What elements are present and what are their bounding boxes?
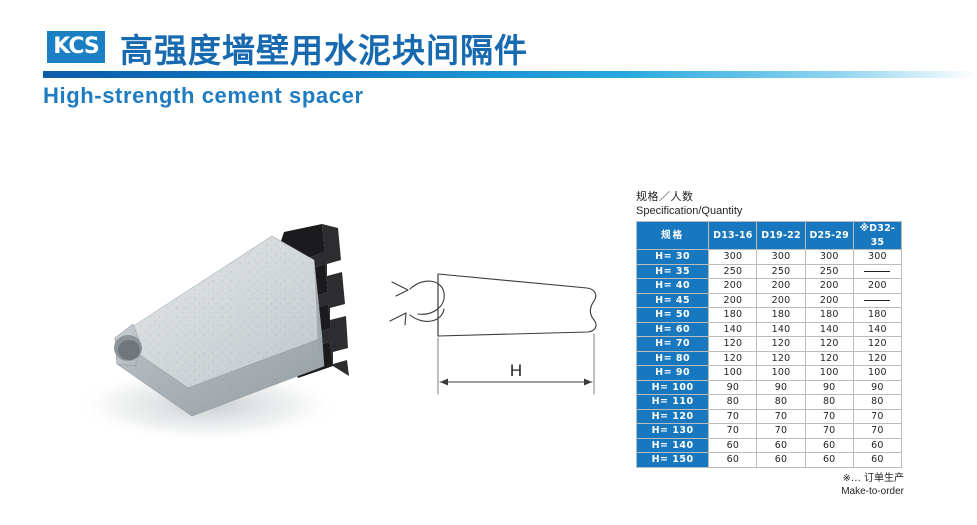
row-header-height: H= 35 xyxy=(637,264,709,279)
arrow-left xyxy=(440,379,448,386)
table-cell: 180 xyxy=(853,308,901,323)
table-cell: 100 xyxy=(709,366,757,381)
row-header-height: H= 70 xyxy=(637,337,709,352)
table-cell: 100 xyxy=(757,366,805,381)
table-cell: 200 xyxy=(757,293,805,308)
table-row: H= 30300300300300 xyxy=(637,250,902,265)
footnote-chinese: ※… 订单生产 xyxy=(636,472,904,485)
table-cell: 60 xyxy=(757,453,805,468)
table-cell xyxy=(853,264,901,279)
table-cell: 70 xyxy=(757,424,805,439)
specification-section: 规格／人数 Specification/Quantity 规格 D13-16 D… xyxy=(636,190,906,498)
table-cell: 300 xyxy=(805,250,853,265)
spec-caption-chinese: 规格／人数 xyxy=(636,190,906,204)
table-cell: 60 xyxy=(805,438,853,453)
spec-caption-english: Specification/Quantity xyxy=(636,204,906,218)
column-header-spec: 规格 xyxy=(637,222,709,250)
page-title-english: High-strength cement spacer xyxy=(43,83,364,109)
table-cell: 70 xyxy=(709,409,757,424)
table-row: H= 90100100100100 xyxy=(637,366,902,381)
table-row: H= 80120120120120 xyxy=(637,351,902,366)
table-row: H= 11080808080 xyxy=(637,395,902,410)
table-cell: 200 xyxy=(709,279,757,294)
table-row: H= 45200200200 xyxy=(637,293,902,308)
table-cell: 120 xyxy=(757,337,805,352)
table-row: H= 70120120120120 xyxy=(637,337,902,352)
table-row: H= 12070707070 xyxy=(637,409,902,424)
table-cell: 200 xyxy=(853,279,901,294)
table-cell: 70 xyxy=(709,424,757,439)
column-header-d19-22: D19-22 xyxy=(757,222,805,250)
table-row: H= 60140140140140 xyxy=(637,322,902,337)
row-header-height: H= 30 xyxy=(637,250,709,265)
table-cell: 90 xyxy=(709,380,757,395)
table-cell: 60 xyxy=(805,453,853,468)
table-cell: 120 xyxy=(709,351,757,366)
row-header-height: H= 40 xyxy=(637,279,709,294)
row-header-height: H= 150 xyxy=(637,453,709,468)
row-header-height: H= 80 xyxy=(637,351,709,366)
table-cell: 140 xyxy=(757,322,805,337)
product-photo xyxy=(22,152,374,482)
table-row: H= 15060606060 xyxy=(637,453,902,468)
footnote-english: Make-to-order xyxy=(636,485,904,498)
table-cell: 250 xyxy=(757,264,805,279)
table-cell: 200 xyxy=(709,293,757,308)
table-cell: 80 xyxy=(709,395,757,410)
table-footnote: ※… 订单生产 Make-to-order xyxy=(636,472,906,498)
table-row: H= 50180180180180 xyxy=(637,308,902,323)
table-row: H= 35250250250 xyxy=(637,264,902,279)
table-cell: 120 xyxy=(757,351,805,366)
column-header-d13-16: D13-16 xyxy=(709,222,757,250)
table-cell: 300 xyxy=(709,250,757,265)
table-row: H= 40200200200200 xyxy=(637,279,902,294)
table-cell: 120 xyxy=(853,351,901,366)
table-cell: 140 xyxy=(805,322,853,337)
not-available-dash xyxy=(864,300,890,301)
table-row: H= 13070707070 xyxy=(637,424,902,439)
table-cell: 70 xyxy=(805,424,853,439)
table-cell: 300 xyxy=(853,250,901,265)
table-cell: 60 xyxy=(709,438,757,453)
table-cell: 100 xyxy=(805,366,853,381)
not-available-dash xyxy=(864,271,890,272)
table-cell: 120 xyxy=(853,337,901,352)
table-row: H= 10090909090 xyxy=(637,380,902,395)
table-cell: 60 xyxy=(709,453,757,468)
table-cell: 60 xyxy=(757,438,805,453)
technical-drawing-svg: H xyxy=(382,268,632,413)
table-cell xyxy=(853,293,901,308)
specification-table: 规格 D13-16 D19-22 D25-29 ※D32-35 H= 30300… xyxy=(636,221,902,468)
block-profile xyxy=(438,274,596,336)
table-cell: 90 xyxy=(757,380,805,395)
table-cell: 120 xyxy=(805,337,853,352)
product-spec-page: KCS 高强度墙壁用水泥块间隔件 High-strength cement sp… xyxy=(0,0,977,525)
table-cell: 100 xyxy=(853,366,901,381)
table-cell: 70 xyxy=(805,409,853,424)
page-title-chinese: 高强度墙壁用水泥块间隔件 xyxy=(120,24,528,72)
table-cell: 180 xyxy=(709,308,757,323)
row-header-height: H= 120 xyxy=(637,409,709,424)
table-cell: 60 xyxy=(853,438,901,453)
table-cell: 70 xyxy=(757,409,805,424)
table-cell: 200 xyxy=(805,293,853,308)
table-body: H= 30300300300300H= 35250250250H= 402002… xyxy=(637,250,902,468)
row-header-height: H= 90 xyxy=(637,366,709,381)
table-cell: 80 xyxy=(805,395,853,410)
row-header-height: H= 50 xyxy=(637,308,709,323)
table-cell: 70 xyxy=(853,409,901,424)
row-header-height: H= 60 xyxy=(637,322,709,337)
row-header-height: H= 45 xyxy=(637,293,709,308)
row-header-height: H= 130 xyxy=(637,424,709,439)
page-header: KCS 高强度墙壁用水泥块间隔件 High-strength cement sp… xyxy=(0,0,977,120)
logo-text: KCS xyxy=(53,36,98,58)
row-header-height: H= 140 xyxy=(637,438,709,453)
row-header-height: H= 110 xyxy=(637,395,709,410)
table-cell: 120 xyxy=(709,337,757,352)
product-photo-illustration xyxy=(22,152,374,482)
table-cell: 90 xyxy=(853,380,901,395)
table-header-row: 规格 D13-16 D19-22 D25-29 ※D32-35 xyxy=(637,222,902,250)
table-cell: 120 xyxy=(805,351,853,366)
table-cell: 250 xyxy=(805,264,853,279)
arrow-right xyxy=(584,379,592,386)
table-cell: 140 xyxy=(853,322,901,337)
dimension-label-h: H xyxy=(510,361,522,380)
rebar-hook-icon xyxy=(390,281,444,325)
table-row: H= 14060606060 xyxy=(637,438,902,453)
table-cell: 90 xyxy=(805,380,853,395)
table-cell: 140 xyxy=(709,322,757,337)
table-cell: 80 xyxy=(757,395,805,410)
table-cell: 180 xyxy=(757,308,805,323)
table-cell: 70 xyxy=(853,424,901,439)
kcs-logo: KCS xyxy=(47,31,105,63)
table-cell: 180 xyxy=(805,308,853,323)
table-cell: 250 xyxy=(709,264,757,279)
table-cell: 80 xyxy=(853,395,901,410)
row-header-height: H= 100 xyxy=(637,380,709,395)
table-cell: 300 xyxy=(757,250,805,265)
table-cell: 200 xyxy=(805,279,853,294)
table-cell: 200 xyxy=(757,279,805,294)
technical-drawing: H xyxy=(382,268,632,413)
column-header-d25-29: D25-29 xyxy=(805,222,853,250)
table-cell: 60 xyxy=(853,453,901,468)
column-header-d32-35: ※D32-35 xyxy=(853,222,901,250)
header-gradient-divider xyxy=(43,71,977,78)
